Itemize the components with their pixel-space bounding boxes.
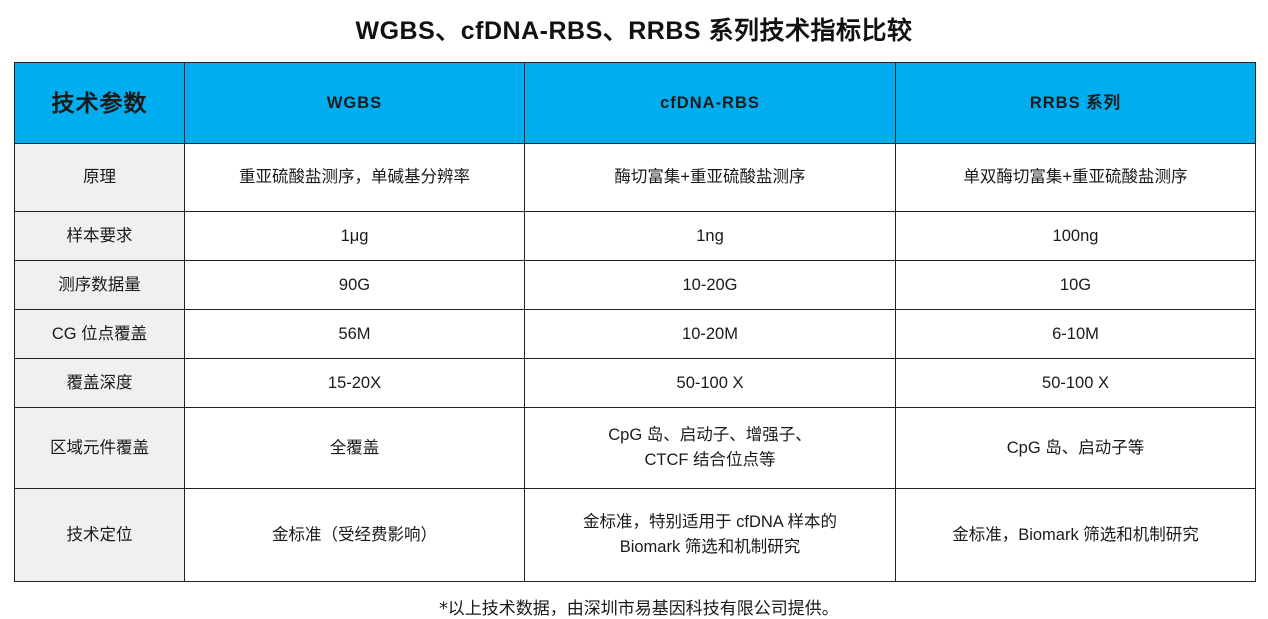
cell-data-cfdna-rbs: 10-20G xyxy=(525,261,896,310)
table-container: 技术参数 WGBS cfDNA-RBS RRBS 系列 原理 重亚硫酸盐测序，单… xyxy=(14,62,1255,582)
table-row: 区域元件覆盖 全覆盖 CpG 岛、启动子、增强子、 CTCF 结合位点等 CpG… xyxy=(15,408,1256,489)
table-row: 覆盖深度 15-20X 50-100 X 50-100 X xyxy=(15,359,1256,408)
cell-region-wgbs: 全覆盖 xyxy=(185,408,525,489)
cell-depth-cfdna-rbs: 50-100 X xyxy=(525,359,896,408)
cell-sample-wgbs: 1μg xyxy=(185,212,525,261)
cell-depth-rrbs: 50-100 X xyxy=(896,359,1256,408)
page-title: WGBS、cfDNA-RBS、RRBS 系列技术指标比较 xyxy=(0,0,1268,48)
table-header: 技术参数 WGBS cfDNA-RBS RRBS 系列 xyxy=(15,63,1256,144)
cell-line-2: CTCF 结合位点等 xyxy=(531,448,889,473)
cell-data-wgbs: 90G xyxy=(185,261,525,310)
cell-line-1: 金标准，特别适用于 cfDNA 样本的 xyxy=(531,510,889,535)
table-row: 原理 重亚硫酸盐测序，单碱基分辨率 酶切富集+重亚硫酸盐测序 单双酶切富集+重亚… xyxy=(15,144,1256,212)
cell-sample-cfdna-rbs: 1ng xyxy=(525,212,896,261)
cell-region-rrbs: CpG 岛、启动子等 xyxy=(896,408,1256,489)
table-row: 样本要求 1μg 1ng 100ng xyxy=(15,212,1256,261)
cell-principle-wgbs: 重亚硫酸盐测序，单碱基分辨率 xyxy=(185,144,525,212)
column-header-rrbs: RRBS 系列 xyxy=(896,63,1256,144)
table-row: CG 位点覆盖 56M 10-20M 6-10M xyxy=(15,310,1256,359)
cell-principle-rrbs: 单双酶切富集+重亚硫酸盐测序 xyxy=(896,144,1256,212)
cell-region-cfdna-rbs: CpG 岛、启动子、增强子、 CTCF 结合位点等 xyxy=(525,408,896,489)
cell-position-rrbs: 金标准，Biomark 筛选和机制研究 xyxy=(896,489,1256,582)
technical-comparison-table: 技术参数 WGBS cfDNA-RBS RRBS 系列 原理 重亚硫酸盐测序，单… xyxy=(14,62,1256,582)
cell-position-wgbs: 金标准（受经费影响） xyxy=(185,489,525,582)
cell-position-cfdna-rbs: 金标准，特别适用于 cfDNA 样本的 Biomark 筛选和机制研究 xyxy=(525,489,896,582)
cell-text-multiline: CpG 岛、启动子、增强子、 CTCF 结合位点等 xyxy=(531,423,889,473)
cell-principle-cfdna-rbs: 酶切富集+重亚硫酸盐测序 xyxy=(525,144,896,212)
row-label-cg-coverage: CG 位点覆盖 xyxy=(15,310,185,359)
header-row: 技术参数 WGBS cfDNA-RBS RRBS 系列 xyxy=(15,63,1256,144)
table-row: 测序数据量 90G 10-20G 10G xyxy=(15,261,1256,310)
row-label-region-element-coverage: 区域元件覆盖 xyxy=(15,408,185,489)
row-label-sequencing-data: 测序数据量 xyxy=(15,261,185,310)
cell-depth-wgbs: 15-20X xyxy=(185,359,525,408)
row-label-coverage-depth: 覆盖深度 xyxy=(15,359,185,408)
cell-cg-wgbs: 56M xyxy=(185,310,525,359)
cell-sample-rrbs: 100ng xyxy=(896,212,1256,261)
row-label-principle: 原理 xyxy=(15,144,185,212)
row-label-sample-requirement: 样本要求 xyxy=(15,212,185,261)
column-header-wgbs: WGBS xyxy=(185,63,525,144)
cell-data-rrbs: 10G xyxy=(896,261,1256,310)
cell-cg-rrbs: 6-10M xyxy=(896,310,1256,359)
cell-line-2: Biomark 筛选和机制研究 xyxy=(531,535,889,560)
cell-line-1: CpG 岛、启动子、增强子、 xyxy=(531,423,889,448)
table-row: 技术定位 金标准（受经费影响） 金标准，特别适用于 cfDNA 样本的 Biom… xyxy=(15,489,1256,582)
column-header-cfdna-rbs: cfDNA-RBS xyxy=(525,63,896,144)
footnote: *以上技术数据，由深圳市易基因科技有限公司提供。 xyxy=(0,594,1268,619)
comparison-table-page: WGBS、cfDNA-RBS、RRBS 系列技术指标比较 技术参数 WGBS c… xyxy=(0,0,1268,553)
column-header-param: 技术参数 xyxy=(15,63,185,144)
table-body: 原理 重亚硫酸盐测序，单碱基分辨率 酶切富集+重亚硫酸盐测序 单双酶切富集+重亚… xyxy=(15,144,1256,582)
cell-cg-cfdna-rbs: 10-20M xyxy=(525,310,896,359)
row-label-technical-positioning: 技术定位 xyxy=(15,489,185,582)
